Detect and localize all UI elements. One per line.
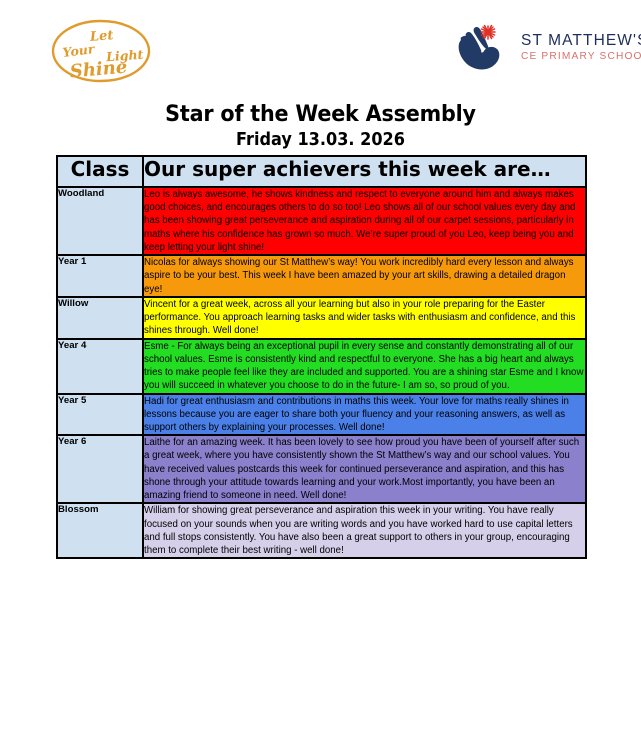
svg-text:Your: Your — [62, 41, 97, 60]
achiever-text-cell: Vincent for a great week, across all you… — [143, 297, 586, 339]
achiever-text-cell: Leo is always awesome, he shows kindness… — [143, 187, 586, 255]
page-title: Star of the Week Assembly — [26, 102, 616, 128]
achievers-table-wrapper: Class Our super achievers this week are…… — [56, 155, 585, 559]
achievers-table: Class Our super achievers this week are…… — [56, 155, 587, 559]
table-row: Woodland Leo is always awesome, he shows… — [57, 187, 586, 255]
page-date: Friday 13.03. 2026 — [26, 130, 616, 151]
table-row: Year 1Nicolas for always showing our St … — [57, 255, 586, 297]
achievers-table-body: Woodland Leo is always awesome, he shows… — [57, 187, 586, 558]
table-row: Year 5Hadi for great enthusiasm and cont… — [57, 394, 586, 436]
class-name-cell: Woodland — [57, 187, 143, 255]
school-name: ST MATTHEW'S — [521, 33, 641, 49]
table-row: WillowVincent for a great week, across a… — [57, 297, 586, 339]
class-name-cell: Year 5 — [57, 394, 143, 436]
achiever-text-cell: Nicolas for always showing our St Matthe… — [143, 255, 586, 297]
let-your-light-shine-logo: Let Your Light Shine — [46, 14, 156, 88]
class-name-cell: Year 1 — [57, 255, 143, 297]
achiever-text-cell: Laithe for an amazing week. It has been … — [143, 435, 586, 503]
table-header-row: Class Our super achievers this week are… — [57, 156, 586, 187]
class-name-cell: Year 6 — [57, 435, 143, 503]
st-matthews-school-logo: ST MATTHEW'S CE PRIMARY SCHOOL — [455, 18, 630, 76]
page-titles: Star of the Week Assembly Friday 13.03. … — [0, 102, 641, 151]
school-logo-wordmark: ST MATTHEW'S CE PRIMARY SCHOOL — [521, 31, 641, 64]
class-name-cell: Year 4 — [57, 339, 143, 394]
achiever-text-cell: Hadi for great enthusiasm and contributi… — [143, 394, 586, 436]
table-row: Year 6Laithe for an amazing week. It has… — [57, 435, 586, 503]
class-name-cell: Willow — [57, 297, 143, 339]
logo-band: Let Your Light Shine — [0, 0, 641, 92]
table-row: BlossomWilliam for showing great perseve… — [57, 503, 586, 558]
column-header-class: Class — [57, 156, 143, 187]
achiever-text-cell: William for showing great perseverance a… — [143, 503, 586, 558]
achiever-text-cell: Esme - For always being an exceptional p… — [143, 339, 586, 394]
column-header-achievers: Our super achievers this week are… — [143, 156, 586, 187]
table-row: Year 4Esme - For always being an excepti… — [57, 339, 586, 394]
class-name-cell: Blossom — [57, 503, 143, 558]
school-subtitle: CE PRIMARY SCHOOL — [521, 51, 641, 63]
hand-with-starburst-icon — [455, 20, 513, 74]
